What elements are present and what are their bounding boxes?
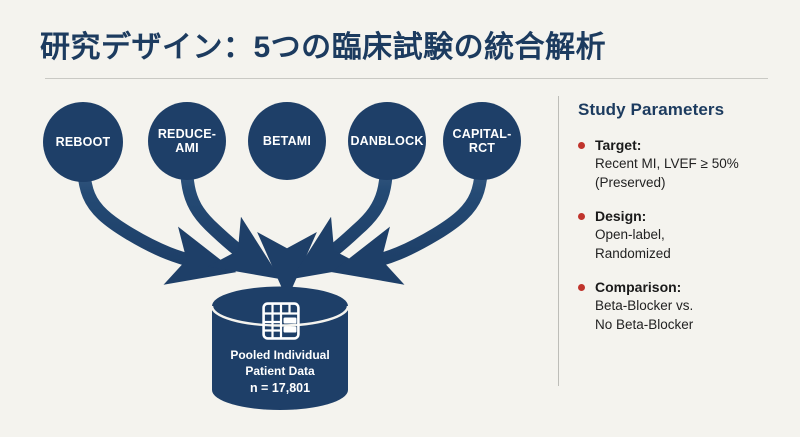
study-parameters-panel: Study Parameters Target: Recent MI, LVEF… <box>578 100 788 349</box>
table-grid-icon <box>262 302 300 340</box>
slide-canvas: 研究デザイン：5つの臨床試験の統合解析 <box>0 0 800 437</box>
study-flow-diagram: REBOOT REDUCE-AMI BETAMI DANBLOCK CAPITA… <box>0 86 558 431</box>
trial-circle-danblock[interactable]: DANBLOCK <box>348 102 426 180</box>
trial-circle-betami[interactable]: BETAMI <box>248 102 326 180</box>
trial-label: REDUCE-AMI <box>152 127 222 156</box>
trial-circle-reboot[interactable]: REBOOT <box>43 102 123 182</box>
parameter-value: Beta-Blocker vs. No Beta-Blocker <box>595 297 788 334</box>
parameter-value: Recent MI, LVEF ≥ 50% (Preserved) <box>595 155 788 192</box>
parameter-label: Target: <box>595 136 788 155</box>
parameter-label: Comparison: <box>595 278 788 297</box>
trial-label: BETAMI <box>263 134 311 148</box>
parameter-value: Open-label, Randomized <box>595 226 788 263</box>
parameter-label: Design: <box>595 207 788 226</box>
bullet-dot-icon <box>578 213 585 220</box>
panel-heading: Study Parameters <box>578 100 788 120</box>
trial-label: REBOOT <box>56 135 111 149</box>
parameter-item-comparison: Comparison: Beta-Blocker vs. No Beta-Blo… <box>578 278 788 334</box>
title-divider <box>45 78 768 79</box>
parameter-item-design: Design: Open-label, Randomized <box>578 207 788 263</box>
trial-label: CAPITAL-RCT <box>447 127 517 156</box>
trial-circle-reduce-ami[interactable]: REDUCE-AMI <box>148 102 226 180</box>
pooled-data-cylinder[interactable]: Pooled Individual Patient Data n = 17,80… <box>210 286 350 412</box>
bullet-dot-icon <box>578 142 585 149</box>
bullet-dot-icon <box>578 284 585 291</box>
vertical-divider <box>558 96 559 386</box>
parameter-item-target: Target: Recent MI, LVEF ≥ 50% (Preserved… <box>578 136 788 192</box>
page-title: 研究デザイン：5つの臨床試験の統合解析 <box>40 22 606 66</box>
trial-label: DANBLOCK <box>350 134 423 148</box>
trial-circle-capital-rct[interactable]: CAPITAL-RCT <box>443 102 521 180</box>
